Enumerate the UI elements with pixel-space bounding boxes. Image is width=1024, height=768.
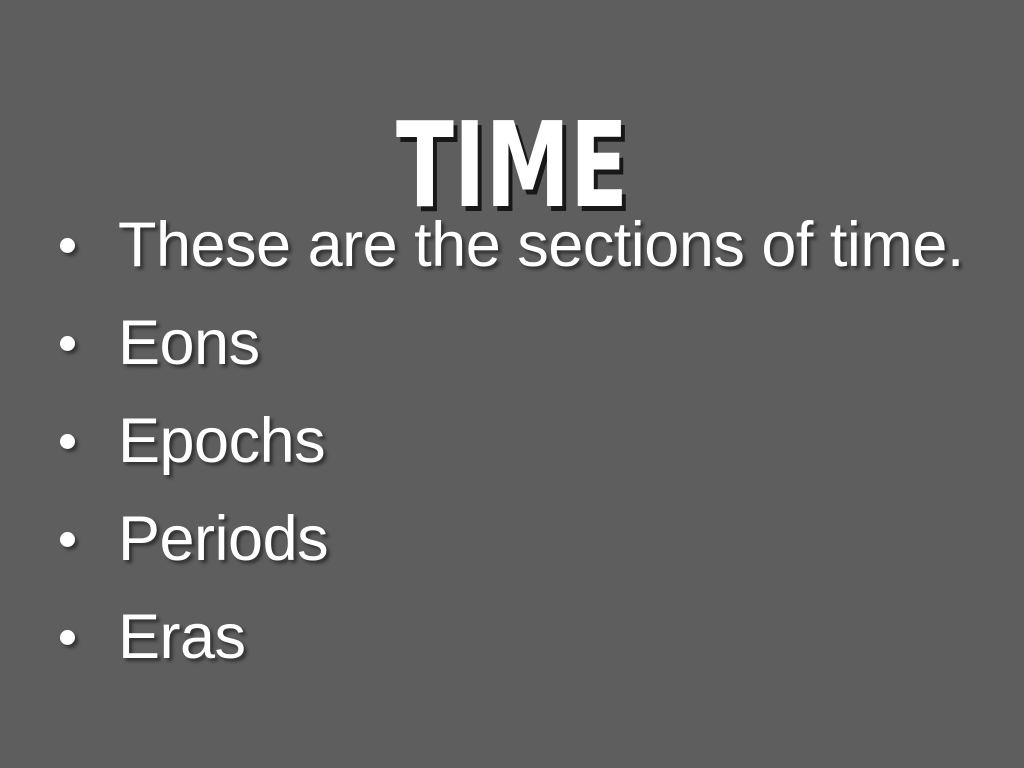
bullet-item-label: Eras [118,606,246,669]
bullet-dot-icon [60,532,75,547]
bullet-dot-icon [60,630,75,645]
bullet-list: These are the sections of time. Eons Epo… [50,196,1010,686]
bullet-dot-icon [60,238,75,253]
bullet-item-label: These are the sections of time. [118,214,964,277]
bullet-item-label: Eons [118,312,260,375]
bullet-dot-icon [60,336,75,351]
list-item: Periods [50,490,1010,588]
bullet-item-label: Periods [118,508,328,571]
bullet-dot-icon [60,434,75,449]
list-item: These are the sections of time. [50,196,1010,294]
list-item: Epochs [50,392,1010,490]
list-item: Eons [50,294,1010,392]
presentation-slide: TIME These are the sections of time. Eon… [0,0,1024,768]
bullet-item-label: Epochs [118,410,325,473]
list-item: Eras [50,588,1010,686]
